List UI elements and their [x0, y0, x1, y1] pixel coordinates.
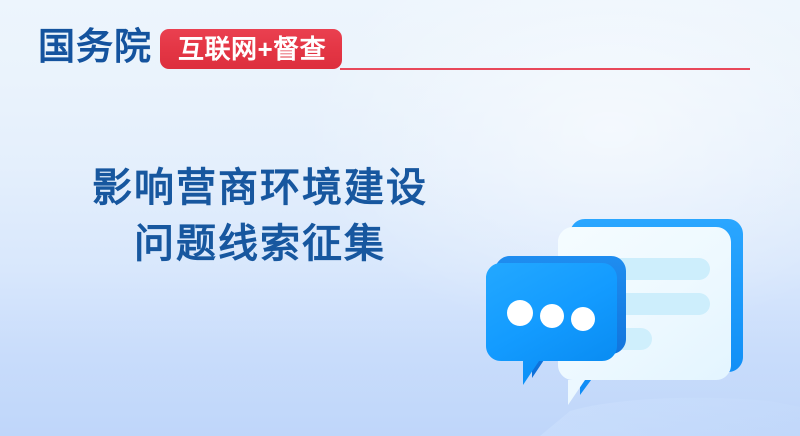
chat-bubbles-illustration [470, 215, 800, 436]
page-title-line-1: 影响营商环境建设 [0, 160, 520, 216]
typing-dot-2 [540, 304, 564, 328]
header-divider-rule [340, 68, 750, 70]
typing-dot-1 [507, 300, 533, 326]
typing-dot-3 [571, 307, 595, 331]
banner-header: 国务院 互联网+督查 [0, 0, 800, 86]
illustration-ground-shadow [540, 398, 800, 436]
page-title: 影响营商环境建设 问题线索征集 [0, 160, 520, 272]
internet-plus-supervision-badge: 互联网+督查 [160, 29, 342, 69]
gov-logo-text: 国务院 [38, 26, 152, 68]
page-title-line-2: 问题线索征集 [0, 216, 520, 272]
banner-root: 国务院 互联网+督查 影响营商环境建设 问题线索征集 [0, 0, 800, 436]
badge-label: 互联网+督查 [178, 35, 326, 63]
